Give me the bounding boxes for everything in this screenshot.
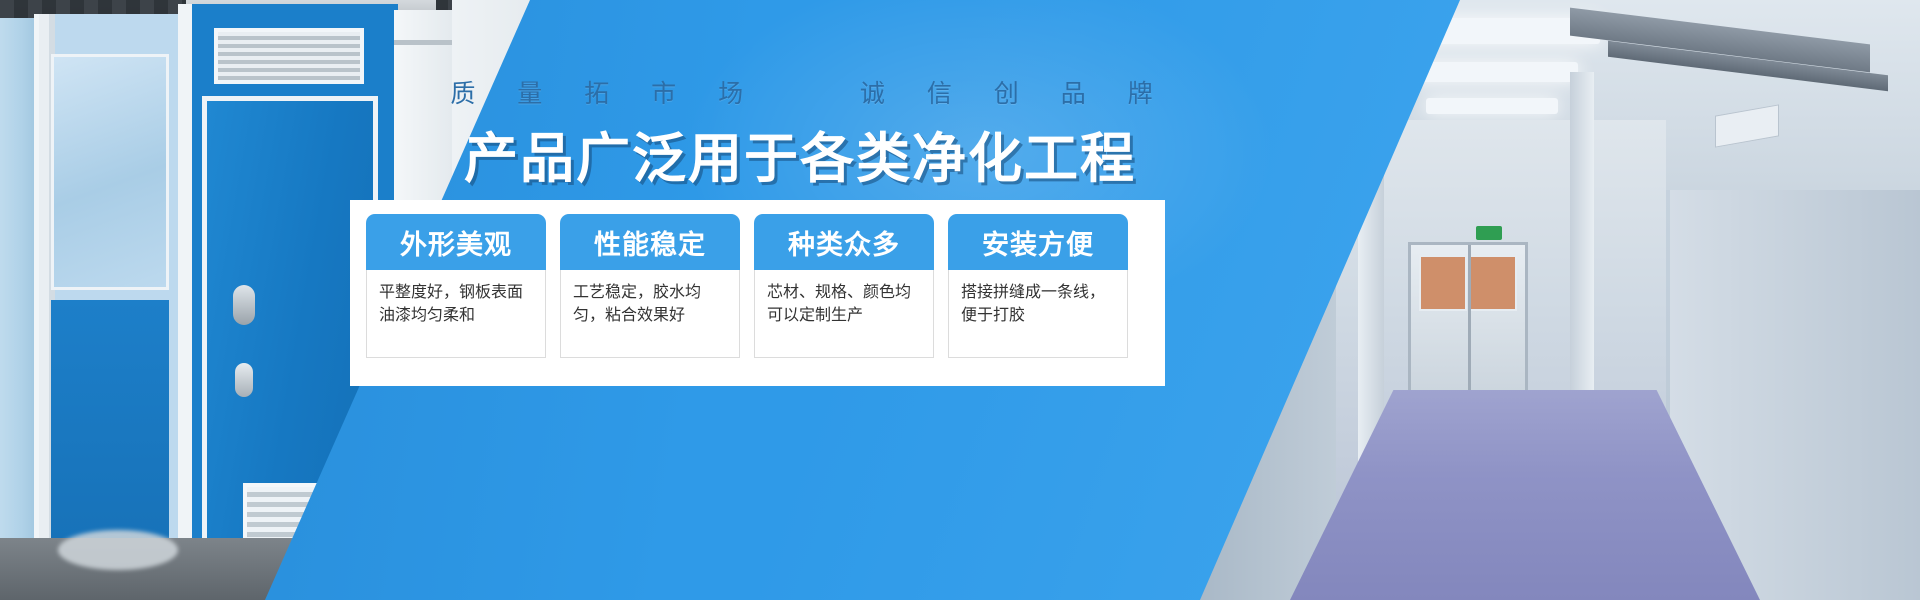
cleanroom-double-door — [1408, 242, 1528, 410]
banner-headline: 产品广泛用于各类净化工程 — [0, 114, 1600, 193]
feature-card-text: 搭接拼缝成一条线，便于打胶 — [948, 270, 1128, 358]
door-window-right — [1469, 255, 1517, 311]
feature-card[interactable]: 外形美观 平整度好，钢板表面油漆均匀柔和 — [366, 214, 546, 358]
feature-card-title: 安装方便 — [948, 214, 1128, 270]
feature-card-title: 外形美观 — [366, 214, 546, 270]
feature-card-title: 性能稳定 — [560, 214, 740, 270]
banner-subtitle: 质 量 拓 市 场 诚 信 创 品 牌 — [0, 74, 1620, 110]
feature-card[interactable]: 种类众多 芯材、规格、颜色均可以定制生产 — [754, 214, 934, 358]
feature-cards-panel: 外形美观 平整度好，钢板表面油漆均匀柔和 性能稳定 工艺稳定，胶水均匀，粘合效果… — [350, 200, 1165, 386]
feature-card-text: 平整度好，钢板表面油漆均匀柔和 — [366, 270, 546, 358]
feature-card[interactable]: 性能稳定 工艺稳定，胶水均匀，粘合效果好 — [560, 214, 740, 358]
feature-card-text: 工艺稳定，胶水均匀，粘合效果好 — [560, 270, 740, 358]
floor-reflection — [58, 530, 178, 570]
door-handle-lower — [235, 363, 253, 397]
promo-banner: 质 量 拓 市 场 诚 信 创 品 牌 产品广泛用于各类净化工程 外形美观 平整… — [0, 0, 1920, 600]
feature-card[interactable]: 安装方便 搭接拼缝成一条线，便于打胶 — [948, 214, 1128, 358]
door-handle-upper — [233, 285, 255, 325]
feature-card-text: 芯材、规格、颜色均可以定制生产 — [754, 270, 934, 358]
exit-sign — [1476, 226, 1502, 240]
door-window-left — [1419, 255, 1467, 311]
feature-card-title: 种类众多 — [754, 214, 934, 270]
